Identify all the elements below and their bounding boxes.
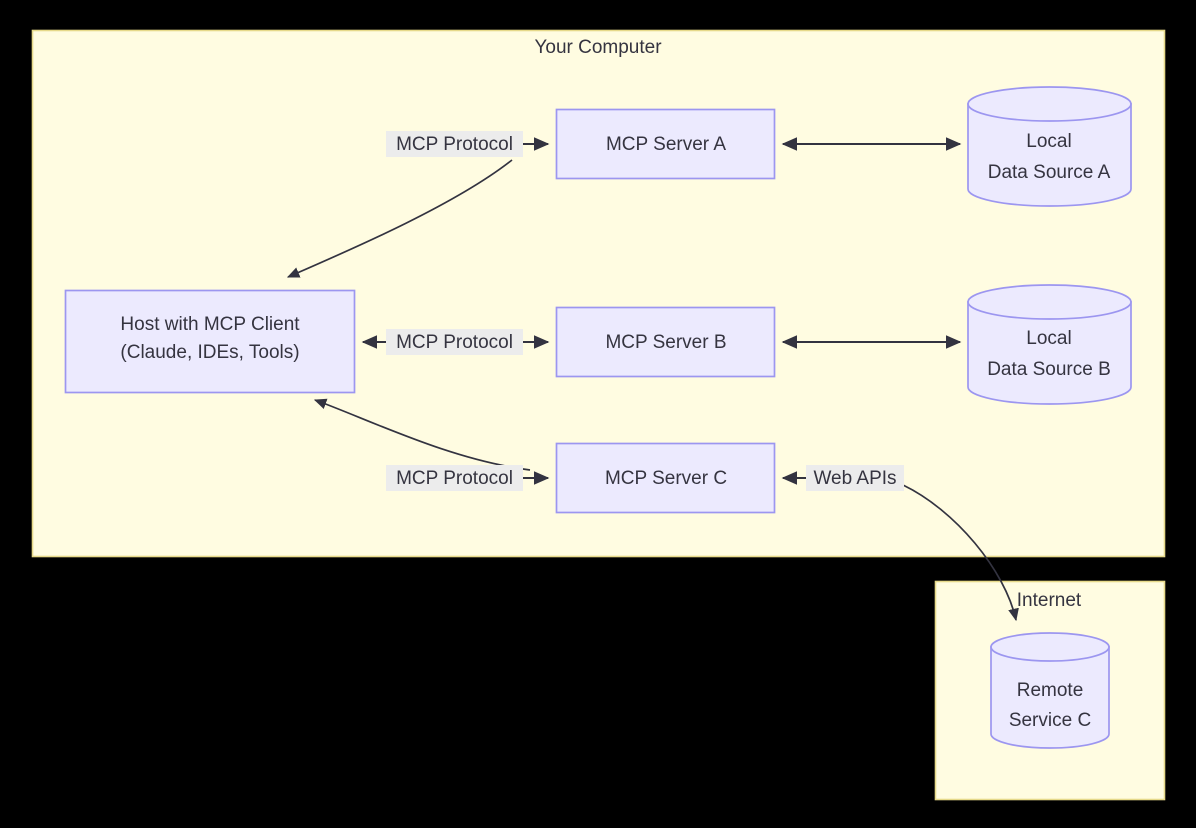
node-data-source-b-label-line2: Data Source B xyxy=(987,359,1111,380)
edge-label-host-server-a: MCP Protocol xyxy=(386,131,523,157)
node-data-source-a-top xyxy=(968,87,1131,121)
node-data-source-a[interactable]: Local Data Source A xyxy=(968,87,1131,206)
edge-label-text: MCP Protocol xyxy=(396,468,513,489)
node-host-label-line2: (Claude, IDEs, Tools) xyxy=(120,342,299,363)
node-server-a[interactable]: MCP Server A xyxy=(557,110,775,179)
node-data-source-b-label-line1: Local xyxy=(1026,328,1071,349)
edge-label-text: MCP Protocol xyxy=(396,332,513,353)
diagram-canvas: Your Computer Internet xyxy=(0,0,1196,828)
node-remote-service-c-label-line1: Remote xyxy=(1017,680,1084,701)
node-host[interactable]: Host with MCP Client (Claude, IDEs, Tool… xyxy=(66,291,355,393)
node-data-source-a-label-line1: Local xyxy=(1026,131,1071,152)
edge-label-host-server-b: MCP Protocol xyxy=(386,329,523,355)
node-data-source-a-label-line2: Data Source A xyxy=(988,162,1111,183)
edge-label-text: Web APIs xyxy=(813,468,896,489)
node-remote-service-c[interactable]: Remote Service C xyxy=(991,633,1109,748)
edge-label-server-c-remote-service-c: Web APIs xyxy=(806,465,904,491)
group-your-computer-title: Your Computer xyxy=(534,37,662,58)
node-remote-service-c-top xyxy=(991,633,1109,661)
node-server-c[interactable]: MCP Server C xyxy=(557,444,775,513)
node-server-a-label: MCP Server A xyxy=(606,134,726,155)
group-internet-title: Internet xyxy=(1017,590,1082,611)
node-data-source-b-top xyxy=(968,285,1131,319)
node-data-source-b[interactable]: Local Data Source B xyxy=(968,285,1131,404)
node-remote-service-c-label-line2: Service C xyxy=(1009,710,1091,731)
edge-label-host-server-c: MCP Protocol xyxy=(386,465,523,491)
node-server-c-label: MCP Server C xyxy=(605,468,727,489)
node-host-label-line1: Host with MCP Client xyxy=(120,314,300,335)
node-server-b[interactable]: MCP Server B xyxy=(557,308,775,377)
node-server-b-label: MCP Server B xyxy=(605,332,726,353)
edge-label-text: MCP Protocol xyxy=(396,134,513,155)
